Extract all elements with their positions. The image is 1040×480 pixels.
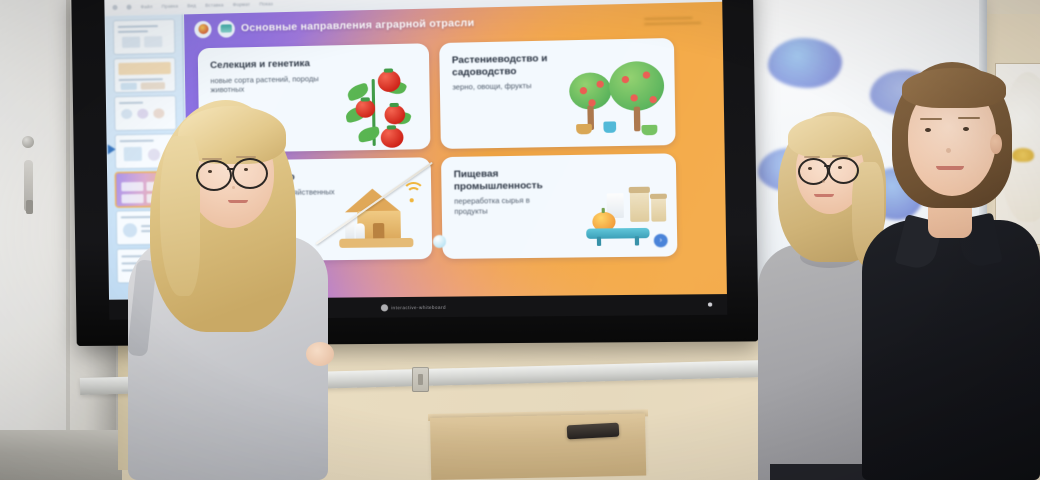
toolbar-dot-icon bbox=[112, 5, 117, 10]
slide-thumbnail[interactable] bbox=[114, 58, 175, 92]
person-student-presenter-left bbox=[120, 96, 350, 480]
classroom-scene: Файл Правка Вид Вставка Формат Показ bbox=[0, 0, 1040, 480]
door-panel[interactable] bbox=[0, 0, 68, 462]
menu-item-file[interactable]: Файл bbox=[141, 4, 153, 9]
door-lock[interactable] bbox=[26, 200, 33, 214]
nose bbox=[822, 180, 825, 183]
hair-parting bbox=[902, 68, 1006, 108]
pointer-stick-tip bbox=[433, 235, 446, 248]
eye-right bbox=[838, 166, 842, 169]
menu-item-format[interactable]: Формат bbox=[233, 2, 251, 7]
card-text-block: Селекция и генетика новые сорта растений… bbox=[210, 58, 333, 96]
toolbar-dot-icon bbox=[126, 5, 131, 10]
eyebrow-right bbox=[958, 117, 980, 119]
slide-title: Основные направления аграрной отрасли bbox=[241, 17, 475, 33]
floor-rail bbox=[0, 430, 122, 480]
mouth bbox=[936, 166, 964, 170]
hair-front-fringe bbox=[788, 116, 872, 158]
card-title: Пищевая промышленность bbox=[454, 167, 563, 192]
mouth bbox=[814, 194, 834, 197]
door-handle[interactable] bbox=[22, 136, 34, 148]
glasses-lens-right bbox=[232, 158, 268, 189]
nose bbox=[232, 186, 235, 189]
next-slide-button[interactable]: › bbox=[654, 234, 668, 248]
card-text-block: Растениеводство и садоводство зерно, ово… bbox=[452, 53, 565, 93]
card-subtitle: зерно, овощи, фрукты bbox=[452, 80, 565, 92]
glasses-lens-left bbox=[196, 160, 232, 191]
hair-side-strand bbox=[160, 136, 200, 296]
door-seam bbox=[66, 0, 70, 462]
menu-item-edit[interactable]: Правка bbox=[162, 3, 179, 8]
glasses-lens-right bbox=[828, 157, 859, 184]
brand-mark-icon bbox=[381, 304, 388, 311]
play-slideshow-icon[interactable] bbox=[107, 144, 115, 154]
slide-corner-note bbox=[644, 17, 706, 29]
black-shirt-torso bbox=[862, 220, 1040, 480]
card-title: Растениеводство и садоводство bbox=[452, 53, 565, 79]
eye-left bbox=[208, 170, 212, 173]
eyebrow-left bbox=[920, 118, 942, 120]
glasses-bridge bbox=[824, 165, 830, 167]
glasses-bridge bbox=[227, 168, 234, 170]
brand-name: interactive-whiteboard bbox=[391, 304, 446, 310]
eye-left bbox=[808, 167, 812, 170]
eye-right bbox=[244, 168, 248, 171]
card-food-industry[interactable]: Пищевая промышленность переработка сырья… bbox=[441, 153, 677, 259]
ear-with-earring bbox=[990, 134, 1002, 154]
slide-thumbnail[interactable] bbox=[114, 20, 175, 54]
power-outlet[interactable] bbox=[412, 367, 429, 392]
menu-item-view[interactable]: Вид bbox=[187, 3, 196, 8]
eye-right bbox=[963, 127, 969, 131]
ir-sensor bbox=[708, 302, 712, 306]
nose bbox=[946, 148, 951, 153]
card-title: Селекция и генетика bbox=[210, 58, 332, 72]
emblem-logo-teal-icon bbox=[217, 20, 235, 38]
person-student-right bbox=[862, 62, 1040, 480]
apple-trees-icon bbox=[556, 50, 676, 147]
display-brand-logo: interactive-whiteboard bbox=[381, 303, 446, 311]
card-text-block: Пищевая промышленность переработка сырья… bbox=[454, 167, 563, 216]
card-crop-gardening[interactable]: Растениеводство и садоводство зерно, ово… bbox=[439, 38, 675, 149]
menu-item-show[interactable]: Показ bbox=[259, 1, 273, 6]
emblem-logo-red-icon bbox=[194, 20, 211, 37]
cloud-decoration-1 bbox=[768, 38, 842, 88]
card-subtitle: переработка сырья в продукты bbox=[454, 195, 563, 216]
remote-control[interactable] bbox=[567, 423, 620, 440]
eye-left bbox=[925, 128, 931, 132]
hand-holding-pointer bbox=[306, 342, 334, 366]
card-subtitle: новые сорта растений, породы животных bbox=[210, 73, 333, 95]
menu-item-insert[interactable]: Вставка bbox=[205, 2, 223, 7]
mouth bbox=[228, 200, 248, 203]
